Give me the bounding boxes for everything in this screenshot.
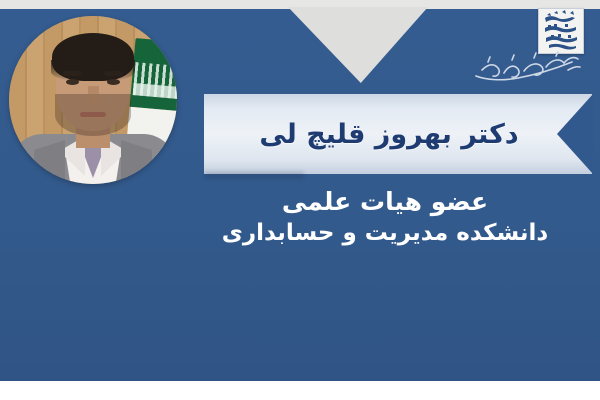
eye-right bbox=[107, 79, 120, 85]
role-title: عضو هیات علمی bbox=[180, 186, 590, 218]
eye-left bbox=[66, 79, 79, 85]
university-logo bbox=[466, 6, 592, 90]
faculty-name: دانشکده مدیریت و حسابداری bbox=[180, 218, 590, 249]
profile-card: دکتر بهروز قلیچ لی عضو هیات علمی دانشکده… bbox=[0, 0, 600, 400]
eyebrow-right bbox=[104, 71, 123, 76]
nose-shape bbox=[88, 86, 99, 106]
shahid-beheshti-university-logo-icon bbox=[538, 8, 584, 54]
mouth-shape bbox=[80, 112, 106, 117]
avatar bbox=[9, 16, 177, 184]
eyebrow-left bbox=[63, 71, 82, 76]
role-block: عضو هیات علمی دانشکده مدیریت و حسابداری bbox=[180, 186, 590, 249]
public-relations-calligraphy-icon bbox=[468, 50, 586, 88]
portrait-photo bbox=[9, 16, 177, 184]
person-name: دکتر بهروز قلیچ لی bbox=[214, 94, 564, 174]
